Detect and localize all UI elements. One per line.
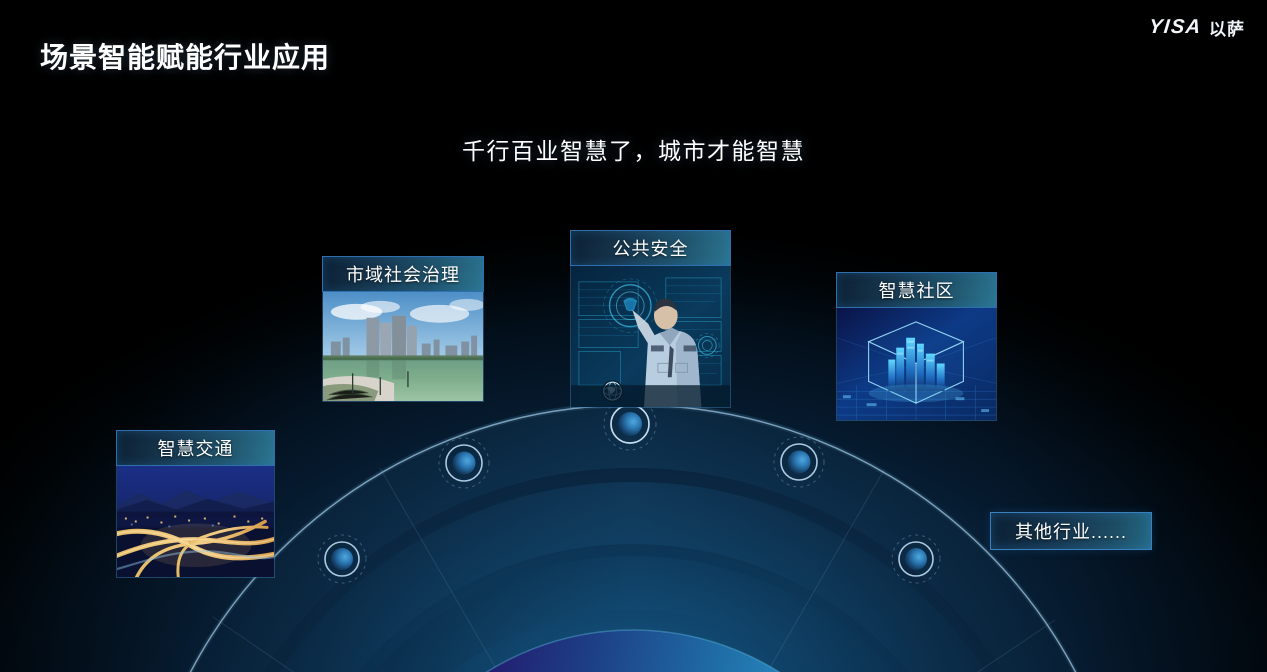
node-ball	[788, 451, 811, 474]
card-label-urban-governance: 市域社会治理	[322, 256, 484, 292]
card-label-public-security: 公共安全	[570, 230, 731, 266]
slide-header: 场景智能赋能行业应用 YISA 以萨	[0, 0, 1267, 92]
node-ball	[331, 548, 353, 570]
card-smart-community[interactable]: 智慧社区	[836, 272, 997, 421]
card-photo-smart-community	[836, 308, 997, 421]
node-ball	[905, 548, 927, 570]
card-label-smart-transport: 智慧交通	[116, 430, 275, 466]
slide-canvas: 场景智能赋能行业应用 YISA 以萨 千行百业智慧了，城市才能智慧 市域社会治理	[0, 0, 1267, 672]
card-label-smart-community: 智慧社区	[836, 272, 997, 308]
node-ball	[453, 452, 476, 475]
brand-latin-text: YISA	[1148, 16, 1203, 39]
node-ball	[618, 412, 642, 436]
card-public-security[interactable]: 公共安全	[570, 230, 731, 408]
page-title: 场景智能赋能行业应用	[40, 36, 330, 76]
card-urban-governance[interactable]: 市域社会治理	[322, 256, 484, 402]
other-industries-button[interactable]: 其他行业......	[990, 512, 1152, 550]
subtitle: 千行百业智慧了，城市才能智慧	[0, 132, 1267, 166]
card-photo-public-security	[570, 266, 731, 408]
card-smart-transport[interactable]: 智慧交通	[116, 430, 275, 578]
card-photo-urban-governance	[322, 292, 484, 402]
brand-logo: YISA 以萨	[1149, 15, 1245, 40]
brand-chinese-text: 以萨	[1209, 15, 1245, 40]
card-photo-smart-transport	[116, 466, 275, 578]
